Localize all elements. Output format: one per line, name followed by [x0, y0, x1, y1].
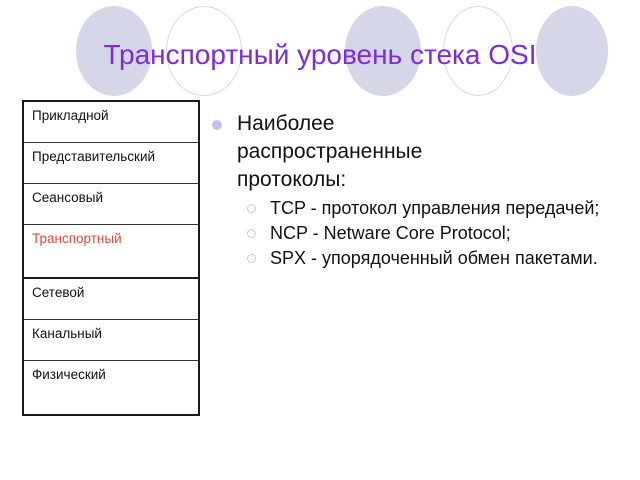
list-item-label: TCP - протокол управления передачей; — [270, 198, 599, 218]
list-item: SPX - упорядоченный обмен пакетами. — [207, 246, 627, 270]
table-row: Физический — [24, 361, 198, 414]
protocol-content: Наиболее распространенные протоколы: TCP… — [207, 110, 627, 271]
list-item-label: Наиболее распространенные протоколы: — [237, 112, 422, 191]
page-title: Транспортный уровень стека OSI — [0, 38, 640, 72]
table-row: Представительский — [24, 143, 198, 184]
hollow-bullet-icon — [247, 229, 256, 238]
slide-canvas: Транспортный уровень стека OSI Прикладно… — [0, 0, 640, 480]
filled-bullet-icon — [212, 120, 222, 130]
list-item-heading: Наиболее распространенные протоколы: — [207, 110, 467, 194]
list-item: TCP - протокол управления передачей; — [207, 196, 627, 220]
osi-layer-table: Прикладной Представительский Сеансовый Т… — [22, 100, 200, 416]
table-row: Сеансовый — [24, 184, 198, 225]
table-row: Прикладной — [24, 102, 198, 143]
table-row: Сетевой — [24, 279, 198, 320]
list-item: NCP - Netware Core Protocol; — [207, 221, 627, 245]
list-item-label: SPX - упорядоченный обмен пакетами. — [270, 248, 598, 268]
list-item-label: NCP - Netware Core Protocol; — [270, 223, 511, 243]
table-row: Канальный — [24, 320, 198, 361]
hollow-bullet-icon — [247, 204, 256, 213]
table-row-highlighted: Транспортный — [24, 225, 198, 279]
hollow-bullet-icon — [247, 254, 256, 263]
protocol-sub-list: TCP - протокол управления передачей; NCP… — [207, 196, 627, 270]
